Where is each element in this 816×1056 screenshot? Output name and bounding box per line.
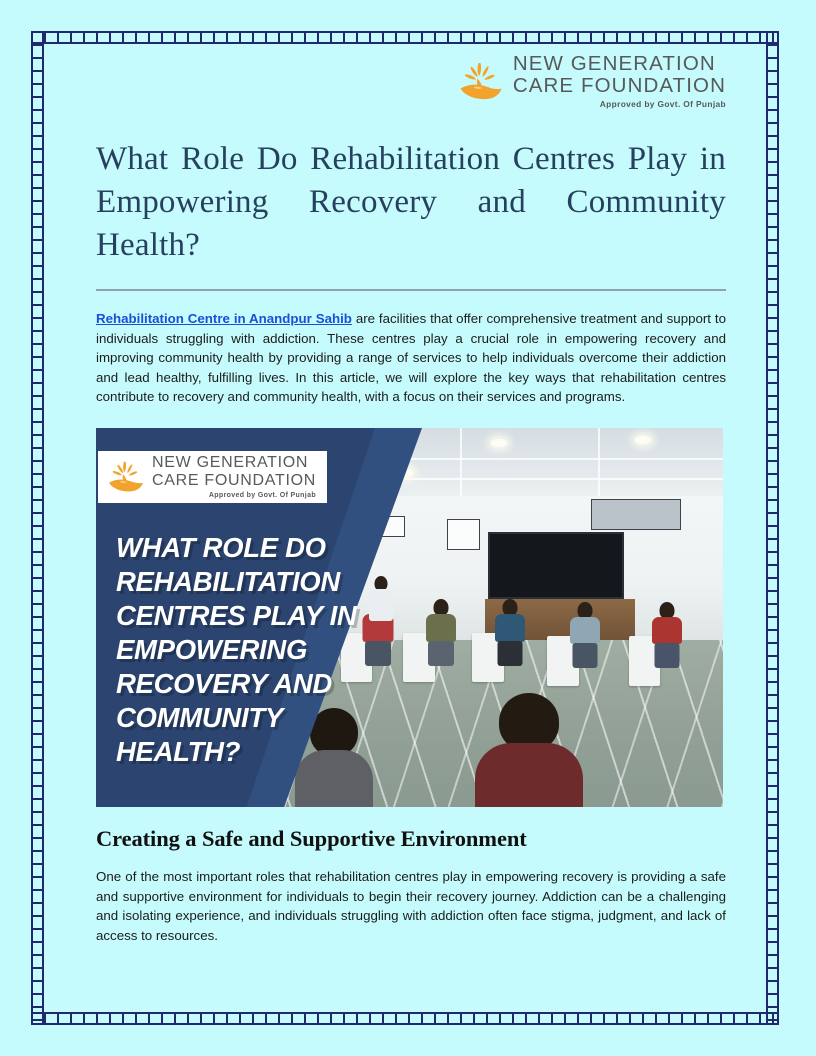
title-divider (96, 289, 726, 291)
border-rail-left (42, 31, 44, 1025)
border-comb-right (766, 31, 779, 1025)
banner-headline-line: HEALTH? (116, 735, 446, 769)
logo-tagline: Approved by Govt. Of Punjab (513, 100, 726, 108)
banner-headline-line: EMPOWERING (116, 633, 446, 667)
banner-headline-line: CENTRES PLAY IN (116, 599, 446, 633)
document-content: NEW GENERATION CARE FOUNDATION Approved … (96, 52, 726, 945)
hand-plant-logo-icon (458, 60, 504, 102)
border-comb-left (31, 31, 44, 1025)
section-paragraph: One of the most important roles that reh… (96, 867, 726, 945)
photo-television (488, 532, 624, 599)
rehabilitation-centre-link[interactable]: Rehabilitation Centre in Anandpur Sahib (96, 311, 352, 326)
banner-headline-line: COMMUNITY (116, 701, 446, 735)
banner-logo-line-1: NEW GENERATION (152, 455, 316, 471)
border-comb-bottom (31, 1012, 779, 1025)
banner-headline-line: WHAT ROLE DO (116, 531, 446, 565)
border-rail-right (766, 31, 768, 1025)
logo-line-2: CARE FOUNDATION (513, 76, 726, 97)
banner-headline-line: REHABILITATION (116, 565, 446, 599)
banner-logo-wordmark: NEW GENERATION CARE FOUNDATION Approved … (152, 455, 316, 499)
header-logo-wordmark: NEW GENERATION CARE FOUNDATION Approved … (513, 54, 726, 108)
border-comb-top (31, 31, 779, 44)
section-heading: Creating a Safe and Supportive Environme… (96, 826, 726, 852)
banner-headline-line: RECOVERY AND (116, 667, 446, 701)
article-banner-image: NEW GENERATION CARE FOUNDATION Approved … (96, 428, 723, 807)
banner-headline: WHAT ROLE DO REHABILITATION CENTRES PLAY… (116, 531, 446, 769)
page-title: What Role Do Rehabilitation Centres Play… (96, 138, 726, 267)
banner-logo-tagline: Approved by Govt. Of Punjab (152, 492, 316, 499)
logo-line-1: NEW GENERATION (513, 54, 726, 75)
hand-plant-logo-icon (107, 459, 145, 494)
photo-person (560, 602, 610, 697)
photo-person-foreground (472, 693, 585, 807)
intro-paragraph: Rehabilitation Centre in Anandpur Sahib … (96, 309, 726, 407)
banner-logo-card: NEW GENERATION CARE FOUNDATION Approved … (98, 451, 327, 503)
border-rail-bottom (31, 1012, 779, 1014)
header-logo: NEW GENERATION CARE FOUNDATION Approved … (96, 52, 726, 110)
photo-person (641, 602, 691, 697)
banner-logo-line-2: CARE FOUNDATION (152, 473, 316, 489)
border-rail-top (31, 42, 779, 44)
photo-person (485, 599, 535, 694)
